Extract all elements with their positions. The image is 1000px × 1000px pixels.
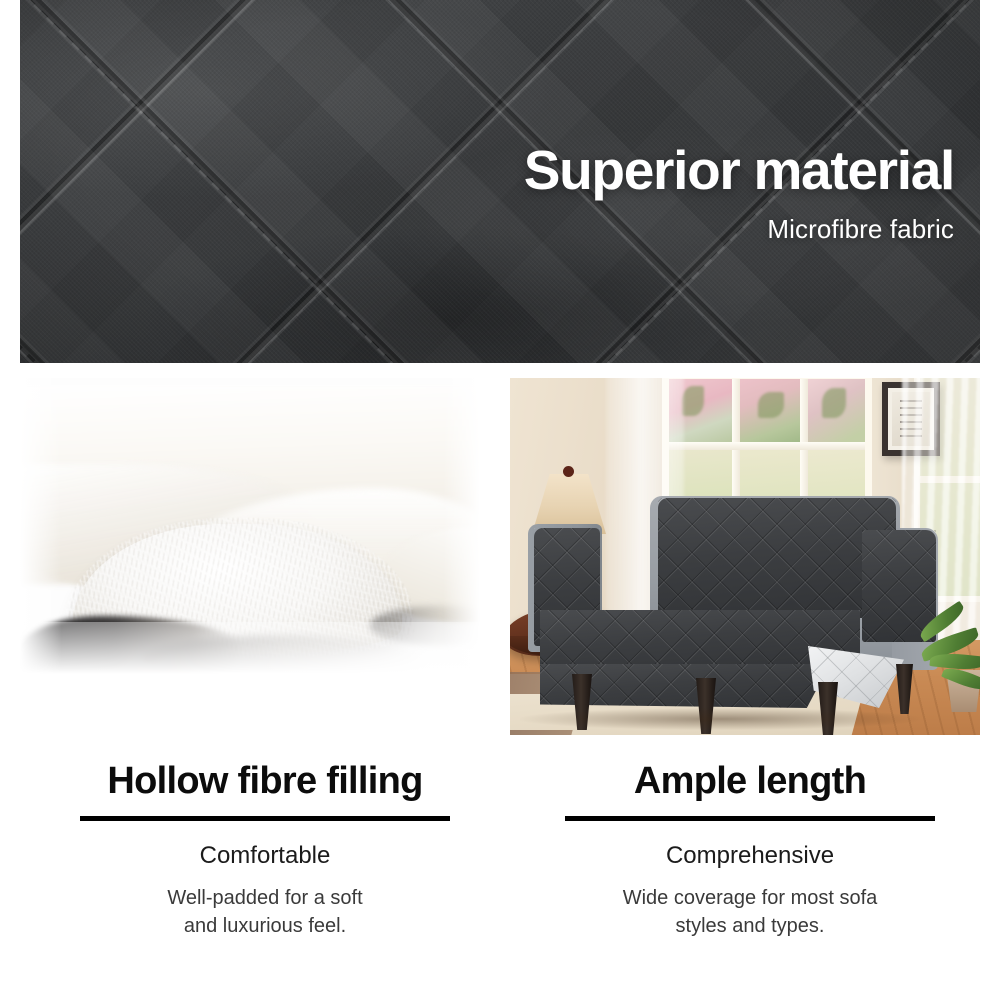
sofa-room-photo (510, 378, 980, 735)
feature-divider (80, 816, 450, 821)
hero-title: Superior material (524, 142, 954, 198)
feature-subtitle: Comprehensive (535, 842, 965, 870)
hero-copy-block: Superior material Microfibre fabric (524, 142, 954, 245)
feature-body-line: and luxurious feel. (50, 913, 480, 941)
feature-body-line: styles and types. (535, 913, 965, 941)
lamp-finial (563, 466, 574, 477)
fibre-filling-photo (20, 378, 480, 708)
feature-divider (565, 816, 935, 821)
feature-body: Well-padded for a soft and luxurious fee… (50, 885, 480, 940)
sofa-floor-shadow (520, 708, 920, 730)
feature-subtitle: Comfortable (50, 842, 480, 870)
feature-body: Wide coverage for most sofa styles and t… (535, 885, 965, 940)
hero-subtitle: Microfibre fabric (524, 214, 954, 245)
rug-border-trim (510, 730, 573, 735)
fibre-photo-edge-fade (20, 378, 480, 708)
hero-banner: Superior material Microfibre fabric (20, 0, 980, 363)
quilted-cover-back (658, 498, 896, 618)
feature-body-line: Wide coverage for most sofa (535, 885, 965, 913)
feature-body-line: Well-padded for a soft (50, 885, 480, 913)
feature-title: Ample length (535, 762, 965, 802)
feature-title: Hollow fibre filling (50, 762, 480, 802)
feature-column-hollow-fibre-filling: Hollow fibre filling Comfortable Well-pa… (50, 762, 480, 941)
feature-column-ample-length: Ample length Comprehensive Wide coverage… (535, 762, 965, 941)
